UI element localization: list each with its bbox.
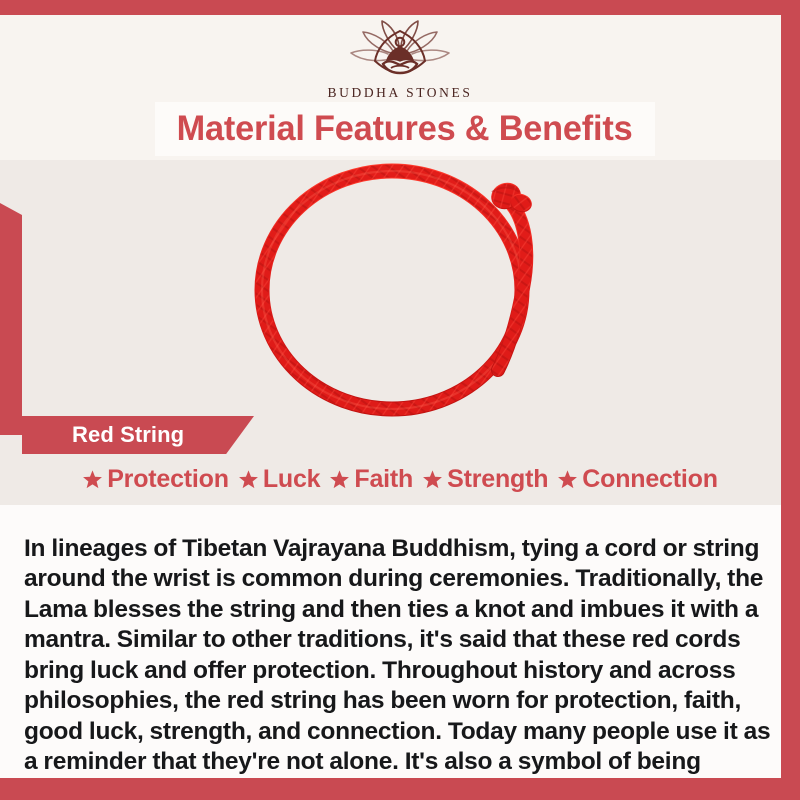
- lotus-meditation-icon: [341, 18, 459, 82]
- benefit-item-faith: Faith: [329, 465, 413, 494]
- brand-logo: BUDDHA STONES: [0, 18, 800, 101]
- star-icon: [329, 469, 350, 490]
- brand-wordmark: BUDDHA STONES: [328, 85, 473, 101]
- star-icon: [82, 469, 103, 490]
- page-title-banner: Material Features & Benefits: [155, 102, 655, 156]
- product-description: In lineages of Tibetan Vajrayana Buddhis…: [24, 534, 772, 800]
- benefit-label: Faith: [354, 465, 413, 494]
- star-icon: [422, 469, 443, 490]
- star-icon: [238, 469, 259, 490]
- red-braided-cord-bracelet-icon: [240, 156, 570, 424]
- product-name-banner: Red String: [22, 416, 254, 454]
- benefit-label: Strength: [447, 465, 548, 494]
- frame-strip-right: [781, 0, 800, 800]
- benefit-item-connection: Connection: [557, 465, 718, 494]
- benefit-item-luck: Luck: [238, 465, 321, 494]
- benefit-item-protection: Protection: [82, 465, 229, 494]
- frame-strip-top: [0, 0, 800, 15]
- benefit-item-strength: Strength: [422, 465, 548, 494]
- benefit-label: Connection: [582, 465, 718, 494]
- frame-accent-left: [0, 203, 22, 435]
- product-image: [0, 160, 800, 420]
- product-name-label: Red String: [72, 422, 184, 448]
- benefit-label: Protection: [107, 465, 229, 494]
- infographic-page: BUDDHA STONES Material Features & Benefi…: [0, 0, 800, 800]
- page-title: Material Features & Benefits: [177, 109, 633, 149]
- benefit-label: Luck: [263, 465, 321, 494]
- frame-strip-bottom: [0, 778, 800, 800]
- star-icon: [557, 469, 578, 490]
- benefits-list: Protection Luck Faith: [0, 465, 800, 494]
